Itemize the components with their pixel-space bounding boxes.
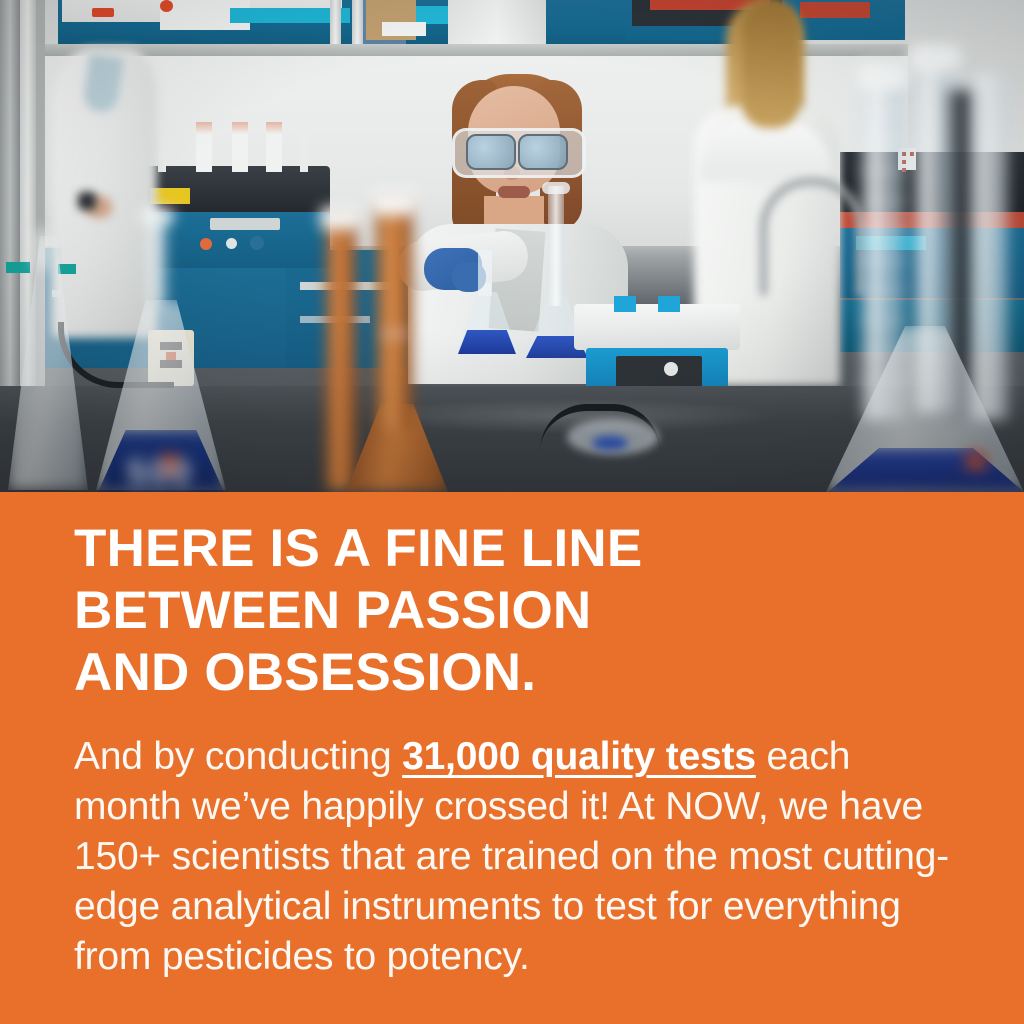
amber-glass-column-left bbox=[326, 216, 356, 490]
goggles-lens-right bbox=[518, 134, 568, 170]
volumetric-flask-neck bbox=[548, 186, 564, 306]
cabinet-tube-left bbox=[330, 0, 341, 44]
column-graduation-mark bbox=[382, 330, 408, 338]
cabinet-white-container bbox=[382, 22, 426, 36]
flexible-exhaust-hose bbox=[760, 178, 864, 295]
flask-neck bbox=[478, 250, 492, 296]
instrument-blue-accent bbox=[614, 296, 636, 312]
goggles-lens-left bbox=[466, 134, 516, 170]
stat-emphasis-quality-tests: 31,000 quality tests bbox=[402, 735, 756, 778]
flask-neck bbox=[34, 230, 50, 270]
teal-tape-marker bbox=[58, 264, 76, 274]
laboratory-photo: 500 bbox=[0, 0, 1024, 492]
graduated-cylinder-3 bbox=[968, 74, 1008, 420]
volumetric-flask-lip bbox=[542, 182, 570, 194]
glass-column-stopper bbox=[370, 190, 418, 216]
instrument-blue-accent bbox=[658, 296, 680, 312]
instrument-screen bbox=[616, 356, 702, 388]
amber-glass-column-right bbox=[376, 200, 412, 430]
blue-liquid-sample bbox=[458, 330, 516, 354]
flask-red-marking bbox=[966, 452, 986, 470]
cabinet-red-shelf-far bbox=[800, 2, 870, 18]
sample-vial bbox=[232, 122, 248, 172]
glass-column-stopper bbox=[320, 206, 362, 230]
cabinet-tube-right bbox=[352, 0, 363, 44]
handheld-device bbox=[78, 192, 96, 210]
instrument-knob-blue bbox=[250, 236, 264, 250]
sample-vial bbox=[266, 122, 282, 172]
cabinet-red-dot bbox=[160, 0, 173, 12]
headline: THERE IS A FINE LINE BETWEEN PASSION AND… bbox=[74, 518, 954, 704]
body-copy: And by conducting 31,000 quality tests e… bbox=[74, 732, 954, 982]
flask-volume-marking: 500 bbox=[112, 452, 208, 492]
scientist-mouth bbox=[498, 186, 530, 198]
teal-tape-marker bbox=[6, 262, 30, 273]
body-copy-segment-1: And by conducting bbox=[74, 735, 402, 778]
sample-vial bbox=[196, 122, 212, 172]
instrument-button-orange bbox=[200, 238, 212, 250]
cabinet-red-label bbox=[92, 8, 114, 17]
sample-vial bbox=[158, 130, 166, 172]
benchtop-instrument-white bbox=[574, 304, 740, 350]
promotional-poster: 500 THERE IS A FINE LINE BETWEEN PASSION… bbox=[0, 0, 1024, 1024]
cylinder-stopper bbox=[856, 62, 910, 90]
background-scientist-hair-highlight bbox=[742, 0, 800, 128]
cylinder-stopper bbox=[908, 44, 962, 72]
flask-lip bbox=[140, 208, 174, 224]
instrument-button-white bbox=[226, 238, 237, 249]
instrument-display-panel bbox=[210, 218, 280, 230]
orange-text-panel: THERE IS A FINE LINE BETWEEN PASSION AND… bbox=[0, 492, 1024, 1024]
flask-neck bbox=[148, 214, 166, 308]
instrument-knob bbox=[664, 362, 678, 376]
petri-dish-contents bbox=[592, 436, 628, 450]
sample-vial bbox=[300, 126, 308, 172]
